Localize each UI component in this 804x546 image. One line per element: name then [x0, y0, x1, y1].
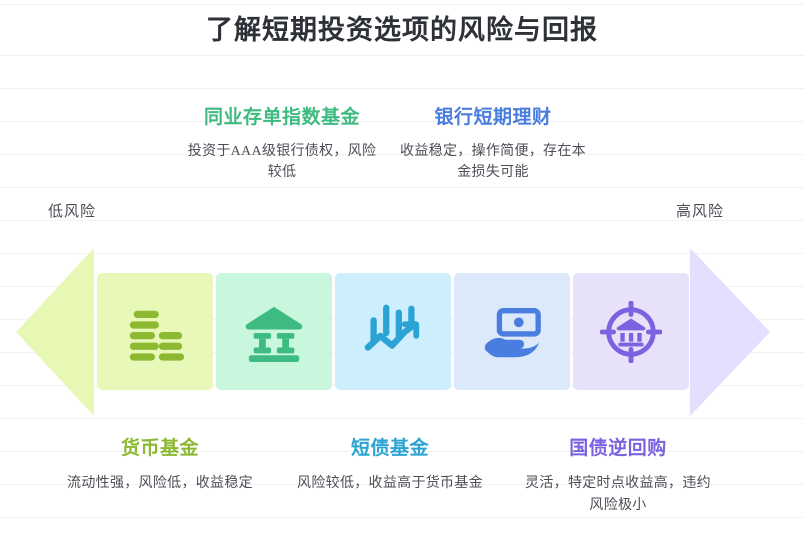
callout-heading: 国债逆回购	[518, 436, 718, 463]
hand-cash-icon	[481, 301, 543, 363]
callout-heading: 银行短期理财	[400, 104, 586, 132]
callout-top-bank-short-term-wealth: 银行短期理财 收益稳定，操作简便，存在本金损失可能	[400, 104, 586, 184]
risk-axis-low-label: 低风险	[48, 200, 96, 221]
callout-top-interbank-cd-fund: 同业存单指数基金 投资于AAA级银行债权，风险较低	[186, 104, 378, 184]
segment-treasury-reverse-repo[interactable]	[573, 273, 689, 390]
coin-stacks-icon	[124, 301, 186, 363]
callout-description: 风险较低，收益高于货币基金	[294, 473, 486, 495]
callout-description: 收益稳定，操作简便，存在本金损失可能	[400, 141, 586, 184]
risk-axis-high-label: 高风险	[676, 200, 724, 221]
callout-heading: 货币基金	[62, 436, 258, 463]
page-title: 了解短期投资选项的风险与回报	[0, 8, 804, 47]
right-arrow-shape	[690, 248, 770, 416]
segment-interbank-cd-index-fund[interactable]	[216, 273, 332, 390]
left-arrow-shape	[16, 248, 94, 416]
callout-heading: 短债基金	[294, 436, 486, 463]
callout-description: 流动性强，风险低，收益稳定	[62, 473, 258, 495]
callout-description: 灵活，特定时点收益高，违约风险极小	[518, 473, 718, 518]
segment-money-market-fund[interactable]	[97, 273, 213, 390]
infographic-canvas: 了解短期投资选项的风险与回报 低风险 高风险 同业存单指数基金 投资于AAA级银…	[0, 0, 804, 546]
callout-bottom-short-term-bond-fund: 短债基金 风险较低，收益高于货币基金	[294, 436, 486, 495]
candlestick-growth-icon	[362, 301, 424, 363]
bank-target-icon	[600, 301, 662, 363]
segment-short-term-bond-fund[interactable]	[335, 273, 451, 390]
callout-bottom-treasury-reverse-repo: 国债逆回购 灵活，特定时点收益高，违约风险极小	[518, 436, 718, 517]
callout-bottom-money-market-fund: 货币基金 流动性强，风险低，收益稳定	[62, 436, 258, 495]
callout-description: 投资于AAA级银行债权，风险较低	[186, 141, 378, 184]
segment-list	[97, 273, 689, 390]
risk-spectrum-band	[0, 248, 804, 418]
callout-heading: 同业存单指数基金	[186, 104, 378, 132]
bank-columns-icon	[243, 301, 305, 363]
segment-bank-short-term-wealth[interactable]	[454, 273, 570, 390]
